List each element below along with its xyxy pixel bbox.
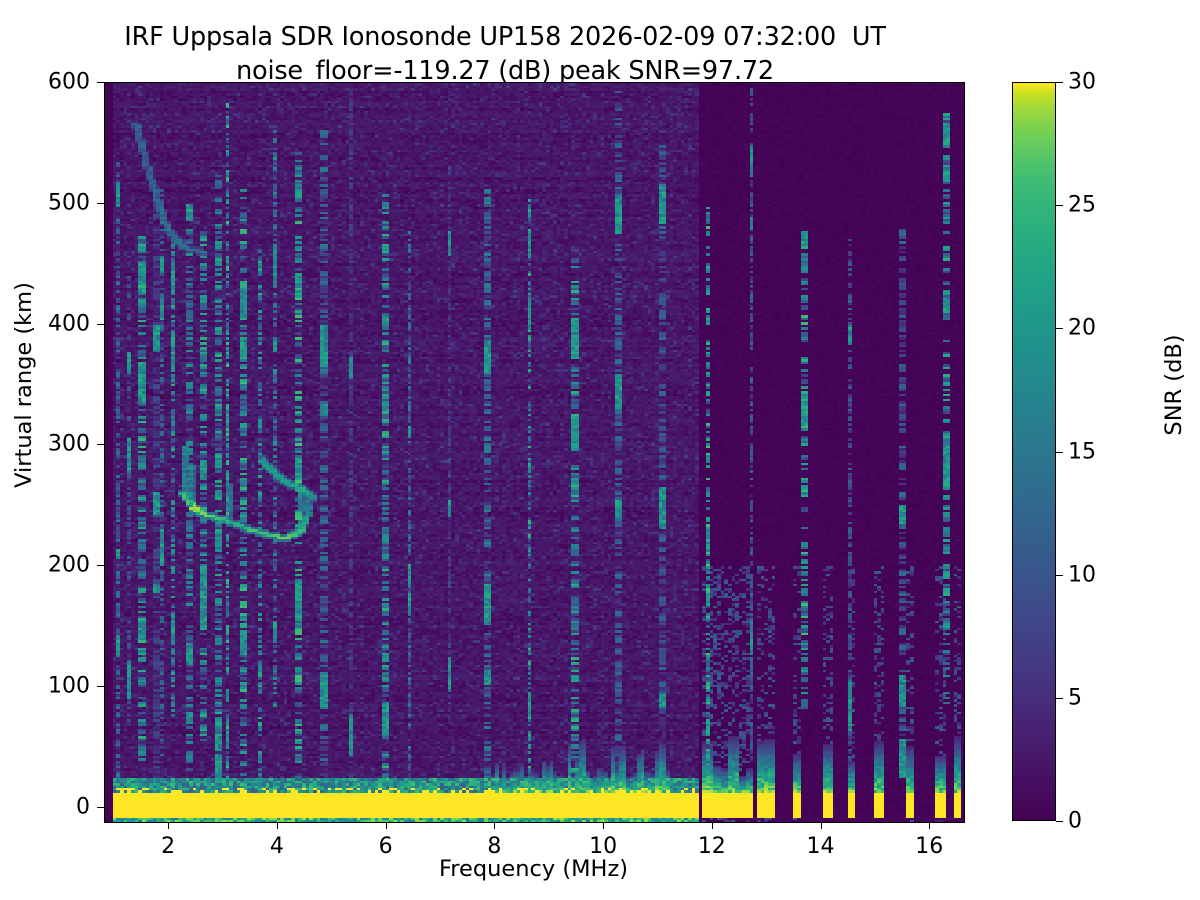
colorbar-label: SNR (dB) xyxy=(1161,275,1187,495)
x-tick-mark xyxy=(168,822,169,829)
y-tick-mark xyxy=(97,807,104,808)
colorbar-tick-label: 20 xyxy=(1068,316,1096,341)
colorbar[interactable]: 051015202530 xyxy=(1012,82,1056,821)
y-tick-mark xyxy=(97,565,104,566)
y-tick-label: 100 xyxy=(0,673,90,698)
colorbar-tick-mark xyxy=(1056,452,1063,453)
colorbar-tick-mark xyxy=(1056,698,1063,699)
y-tick-label: 600 xyxy=(0,70,90,95)
ionogram-figure: IRF Uppsala SDR Ionosonde UP158 2026-02-… xyxy=(0,0,1200,900)
y-tick-mark xyxy=(97,686,104,687)
x-tick-mark xyxy=(603,822,604,829)
x-tick-mark xyxy=(277,822,278,829)
ionogram-plot-area[interactable] xyxy=(104,82,965,823)
y-tick-label: 200 xyxy=(0,553,90,578)
colorbar-tick-label: 30 xyxy=(1068,70,1096,95)
y-tick-mark xyxy=(97,444,104,445)
colorbar-tick-label: 0 xyxy=(1068,809,1082,834)
y-tick-mark xyxy=(97,203,104,204)
y-tick-mark xyxy=(97,324,104,325)
colorbar-tick-mark xyxy=(1056,575,1063,576)
y-tick-label: 0 xyxy=(0,794,90,819)
y-tick-mark xyxy=(97,82,104,83)
colorbar-tick-label: 10 xyxy=(1068,562,1096,587)
x-axis-label: Frequency (MHz) xyxy=(104,856,963,882)
colorbar-tick-label: 5 xyxy=(1068,685,1082,710)
x-tick-mark xyxy=(712,822,713,829)
colorbar-tick-label: 15 xyxy=(1068,439,1096,464)
x-tick-mark xyxy=(494,822,495,829)
y-axis-label: Virtual range (km) xyxy=(11,275,37,495)
figure-title: IRF Uppsala SDR Ionosonde UP158 2026-02-… xyxy=(0,20,1010,88)
x-tick-mark xyxy=(929,822,930,829)
title-line-primary: IRF Uppsala SDR Ionosonde UP158 2026-02-… xyxy=(0,20,1010,54)
colorbar-tick-mark xyxy=(1056,82,1063,83)
colorbar-gradient xyxy=(1012,82,1056,821)
colorbar-tick-mark xyxy=(1056,821,1063,822)
colorbar-tick-mark xyxy=(1056,328,1063,329)
x-tick-mark xyxy=(821,822,822,829)
colorbar-tick-label: 25 xyxy=(1068,193,1096,218)
ionogram-heatmap[interactable] xyxy=(105,83,964,822)
x-tick-mark xyxy=(386,822,387,829)
colorbar-tick-mark xyxy=(1056,205,1063,206)
y-tick-label: 500 xyxy=(0,190,90,215)
